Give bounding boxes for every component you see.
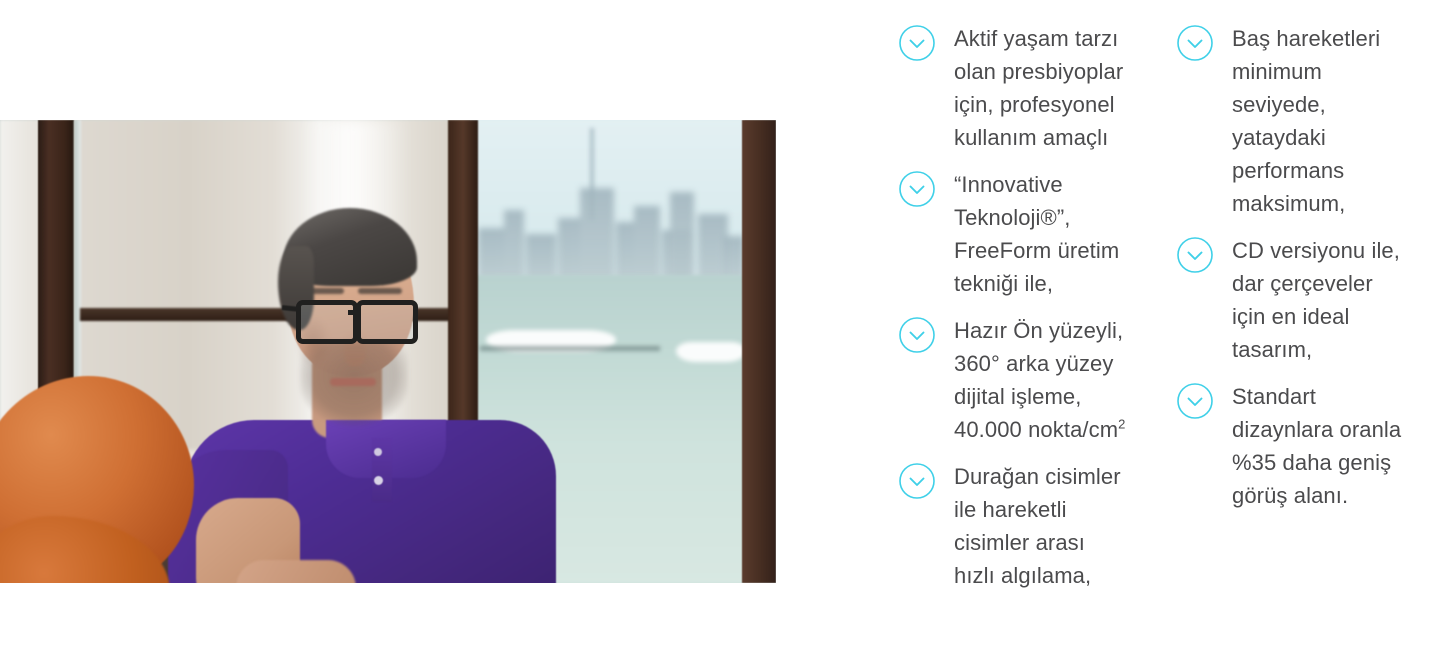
check-circle-icon	[898, 24, 936, 62]
list-item: Hazır Ön yüzeyli, 360° arka yüzey dijita…	[898, 314, 1130, 446]
feature-text-superscript: 2	[1118, 417, 1125, 432]
photo-shirt-button	[374, 476, 383, 485]
list-item: “Innovative Teknoloji®”, FreeForm üretim…	[898, 168, 1130, 300]
photo-forearm-lower	[236, 560, 356, 583]
check-circle-icon	[1176, 382, 1214, 420]
feature-text: Baş hareketleri minimum seviyede, yatayd…	[1232, 22, 1408, 220]
check-circle-icon	[1176, 24, 1214, 62]
photo-canvas	[0, 120, 776, 583]
page-root: Aktif yaşam tarzı olan presbiyoplar için…	[0, 0, 1445, 650]
feature-text: Standart dizaynlara oranla %35 daha geni…	[1232, 380, 1408, 512]
feature-text: Durağan cisimler ile hareketli cisimler …	[954, 460, 1130, 592]
feature-column-2: Baş hareketleri minimum seviyede, yatayd…	[1176, 22, 1408, 526]
photo-mouth	[330, 378, 376, 386]
list-item: Durağan cisimler ile hareketli cisimler …	[898, 460, 1130, 592]
photo-shirt-button	[374, 448, 382, 456]
feature-text: Aktif yaşam tarzı olan presbiyoplar için…	[954, 22, 1130, 154]
check-circle-icon	[898, 170, 936, 208]
photo-eyeglass-lens-right	[356, 300, 418, 344]
feature-text: CD versiyonu ile, dar çerçeveler için en…	[1232, 234, 1408, 366]
list-item: Baş hareketleri minimum seviyede, yatayd…	[1176, 22, 1408, 220]
photo-eyebrow	[358, 288, 402, 294]
feature-list: Aktif yaşam tarzı olan presbiyoplar için…	[898, 22, 1438, 606]
list-item: CD versiyonu ile, dar çerçeveler için en…	[1176, 234, 1408, 366]
hero-photo	[0, 120, 776, 583]
check-circle-icon	[898, 316, 936, 354]
photo-glasses-bridge	[348, 310, 358, 315]
list-item: Aktif yaşam tarzı olan presbiyoplar için…	[898, 22, 1130, 154]
list-item: Standart dizaynlara oranla %35 daha geni…	[1176, 380, 1408, 512]
check-circle-icon	[1176, 236, 1214, 274]
feature-text-main: Hazır Ön yüzeyli, 360° arka yüzey dijita…	[954, 318, 1123, 442]
photo-eyeglass-lens-left	[296, 300, 358, 344]
feature-text: Hazır Ön yüzeyli, 360° arka yüzey dijita…	[954, 314, 1130, 446]
feature-column-1: Aktif yaşam tarzı olan presbiyoplar için…	[898, 22, 1130, 606]
check-circle-icon	[898, 462, 936, 500]
feature-text: “Innovative Teknoloji®”, FreeForm üretim…	[954, 168, 1130, 300]
